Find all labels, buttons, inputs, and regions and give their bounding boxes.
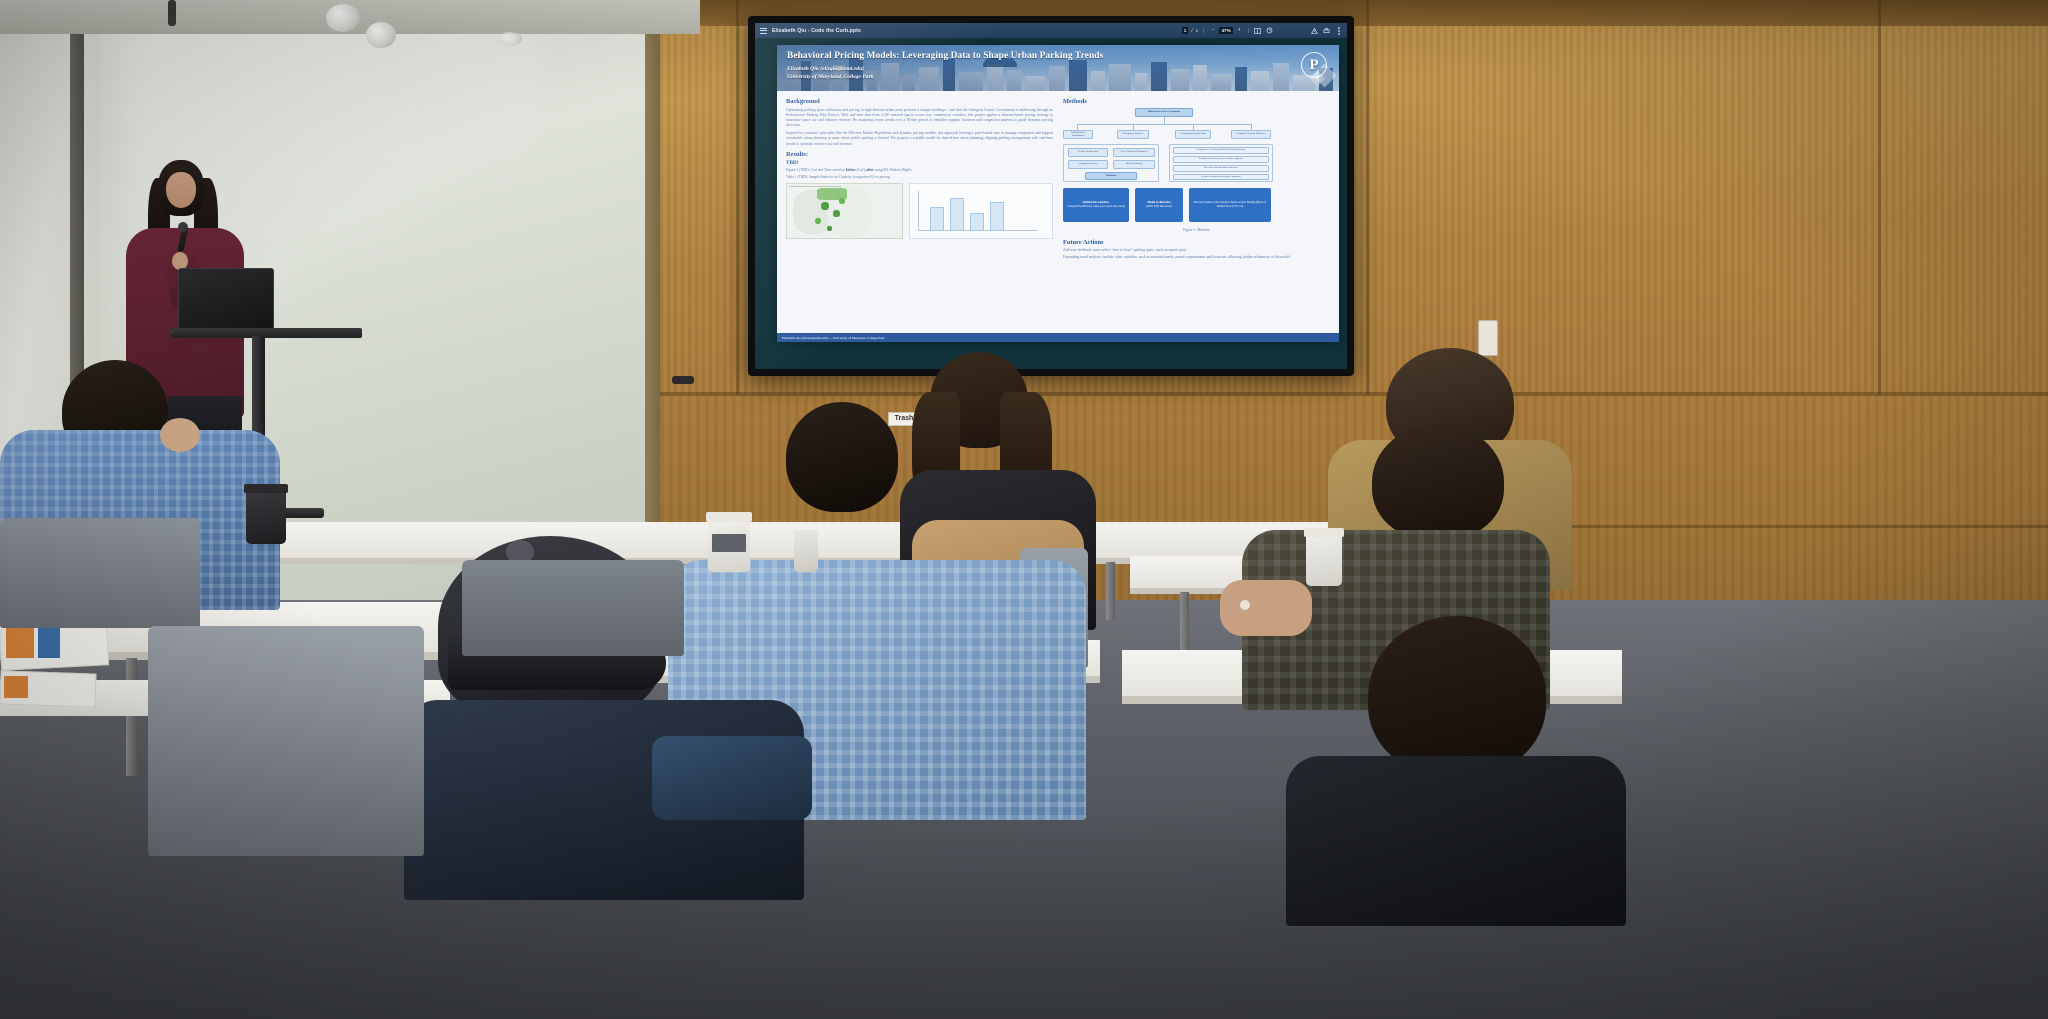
methods-heading: Methods	[1063, 98, 1330, 105]
toolbar-divider: |	[1248, 28, 1249, 34]
background-paragraph-1: Optimizing parking space utilization and…	[786, 108, 1053, 128]
panel-note: Comparison of Demand-Based Pricing Strat…	[1173, 147, 1269, 154]
figure2-caption: Figure 2 (TBD): Cost and Time saved on b…	[786, 168, 1053, 173]
zoom-controls[interactable]: − 47% +	[1209, 27, 1242, 34]
highlight-box-title: Defined the workflow	[1066, 201, 1126, 204]
flow-node: Multi-Source Data Acquisition	[1135, 108, 1193, 117]
poster-title: Behavioral Pricing Models: Leveraging Da…	[787, 51, 1103, 61]
ceiling-spotlight	[366, 22, 396, 48]
coffee-cup[interactable]	[1306, 532, 1342, 586]
flow-node: Model Training	[1113, 160, 1155, 169]
more-options-icon[interactable]	[1335, 28, 1342, 34]
table-leg	[1180, 592, 1189, 654]
attendee-head	[786, 402, 898, 512]
display-screen[interactable]: Elizabeth Qiu - Code the Curb.pptx 1 / 1…	[755, 23, 1347, 369]
background-paragraph-2: Inspired by economic principles like the…	[786, 131, 1053, 146]
cup-sleeve	[712, 534, 746, 552]
flow-node: Price Elasticity Estimation	[1113, 148, 1155, 157]
highlight-box-body: (RNN, NLP, time series)	[1138, 205, 1180, 208]
speaker-face	[166, 172, 196, 208]
flow-node: Congestion Index	[1068, 160, 1108, 169]
chair	[462, 560, 684, 656]
toolbar-divider: |	[1203, 28, 1204, 34]
paper-color-bar	[4, 676, 28, 698]
page-indicator[interactable]: 1 / 1	[1182, 27, 1198, 34]
highlight-box-title: Model architecture	[1138, 201, 1180, 204]
cup-lid	[706, 512, 752, 522]
poster-left-column: Background Optimizing parking space util…	[786, 98, 1053, 342]
flow-node: Geospatial Corridor Data	[1175, 130, 1211, 139]
podium-top	[172, 328, 362, 338]
background-heading: Background	[786, 98, 1053, 105]
attendee-hand	[1220, 580, 1312, 636]
hamburger-menu-icon[interactable]	[760, 28, 767, 34]
poster-header-banner: Behavioral Pricing Models: Leveraging Da…	[777, 45, 1339, 91]
cup-lid	[1304, 528, 1344, 537]
future-action-item: Add user feedback: users select “nice to…	[1063, 248, 1330, 253]
figure2-after-label: after	[866, 168, 873, 172]
table-leg	[126, 658, 137, 776]
poster-right-column: Methods Multi-Source Data Acquisition Pa…	[1063, 98, 1330, 342]
table1-caption: Table 1 (TBD): Sample Statistics on Capa…	[786, 175, 1053, 180]
figure2-caption-prefix: Figure 2 (TBD): Cost and Time saved on	[786, 168, 846, 172]
poster-slide[interactable]: Behavioral Pricing Models: Leveraging Da…	[777, 45, 1339, 342]
rotate-icon[interactable]	[1266, 28, 1273, 34]
poster-footer: Elizabeth Qiu (elizqiu@umd.edu) — Univer…	[777, 333, 1339, 342]
methods-flowchart: Multi-Source Data Acquisition Parking Me…	[1063, 108, 1330, 200]
flow-node: Temporal Demand Windows	[1231, 130, 1271, 139]
panel-note: Evaluation metrics across corridor segme…	[1173, 156, 1269, 163]
highlight-box-body: Discovery feature of the workflow: Futur…	[1192, 201, 1268, 208]
conference-room-scene: Trash Elizabeth Qiu - Code the Curb.pptx…	[0, 0, 2048, 1019]
highlight-box-body: Compared the efficiency issues (cost sav…	[1066, 205, 1126, 208]
ring	[1240, 600, 1250, 610]
ceiling-spotlight	[326, 4, 360, 32]
print-icon[interactable]	[1323, 28, 1330, 34]
poster-body: Background Optimizing parking space util…	[777, 91, 1339, 342]
poster-author-block: Elizabeth Qiu (elizqiu@umd.edu) Universi…	[787, 65, 874, 81]
highlight-box: Discovery feature of the workflow: Futur…	[1189, 188, 1271, 222]
current-page-field[interactable]: 1	[1182, 27, 1189, 34]
author-affiliation: University of Maryland, College Park	[787, 73, 874, 81]
table-back	[180, 522, 1390, 560]
wall-outlet	[1478, 320, 1498, 356]
poster-footer-text: Elizabeth Qiu (elizqiu@umd.edu) — Univer…	[777, 336, 884, 340]
chair	[148, 626, 424, 856]
ceiling-spotlight	[498, 32, 522, 46]
page-separator: /	[1191, 28, 1192, 33]
laptop-screen[interactable]	[178, 268, 274, 334]
map-figure	[786, 183, 903, 239]
warning-icon[interactable]	[1311, 28, 1318, 34]
highlight-box: Model architecture (RNN, NLP, time serie…	[1135, 188, 1183, 222]
attendee-hand	[160, 418, 200, 452]
figure1-caption: Figure 1: Methods	[1063, 228, 1330, 233]
chair	[0, 518, 200, 628]
highlight-box: Defined the workflow Compared the effici…	[1063, 188, 1129, 222]
powerpoint-toolbar[interactable]: Elizabeth Qiu - Code the Curb.pptx 1 / 1…	[755, 23, 1347, 38]
bar-chart-figure	[909, 183, 1053, 239]
flow-node: Validation	[1085, 172, 1137, 180]
attendee-bag	[652, 736, 812, 820]
results-heading: Results:	[786, 151, 1053, 158]
zoom-level-label[interactable]: 47%	[1219, 27, 1232, 34]
fit-width-icon[interactable]	[1254, 28, 1261, 34]
panel-note: Revenue and utilization outcomes	[1173, 165, 1269, 172]
coffee-cup[interactable]	[794, 530, 818, 572]
light-arm	[168, 0, 176, 26]
flow-node: Parking Meter Transactions	[1063, 130, 1093, 139]
figure2-before-label: before	[846, 168, 856, 172]
flow-node: Feature Engineering	[1068, 148, 1108, 157]
results-value: TBD!	[786, 160, 1053, 166]
wood-divider	[660, 392, 2048, 396]
paper-color-bar	[38, 628, 60, 658]
future-actions-heading: Future Actions	[1063, 239, 1330, 246]
attendee-head	[1372, 424, 1504, 540]
paper-color-bar	[6, 628, 34, 658]
author-name: Elizabeth Qiu (elizqiu@umd.edu)	[787, 65, 874, 73]
attendee-head	[1368, 616, 1546, 776]
table-leg	[1106, 562, 1115, 620]
future-action-item: Expanding trend analysis: include other …	[1063, 255, 1330, 260]
results-figure-row	[786, 183, 1053, 239]
figure2-mid-text: using ML Models (	[874, 168, 903, 172]
parking-logo-icon: P	[1301, 52, 1327, 78]
total-pages-label: 1	[1196, 28, 1199, 33]
file-name-label: Elizabeth Qiu - Code the Curb.pptx	[772, 28, 861, 34]
wall-display[interactable]: Elizabeth Qiu - Code the Curb.pptx 1 / 1…	[748, 16, 1354, 376]
coffee-cup[interactable]	[246, 488, 286, 544]
figure2-paren-close: )	[910, 168, 911, 172]
panel-note: Scenario simulation for pilot expansion	[1173, 174, 1269, 180]
cup-lid	[244, 484, 288, 493]
flow-node: Occupancy Sensors	[1117, 130, 1149, 139]
remote-control[interactable]	[672, 376, 694, 384]
microphone-head	[178, 222, 188, 232]
zoom-out-button[interactable]: −	[1209, 28, 1216, 34]
zoom-in-button[interactable]: +	[1236, 28, 1243, 34]
attendee-body	[1286, 756, 1626, 926]
